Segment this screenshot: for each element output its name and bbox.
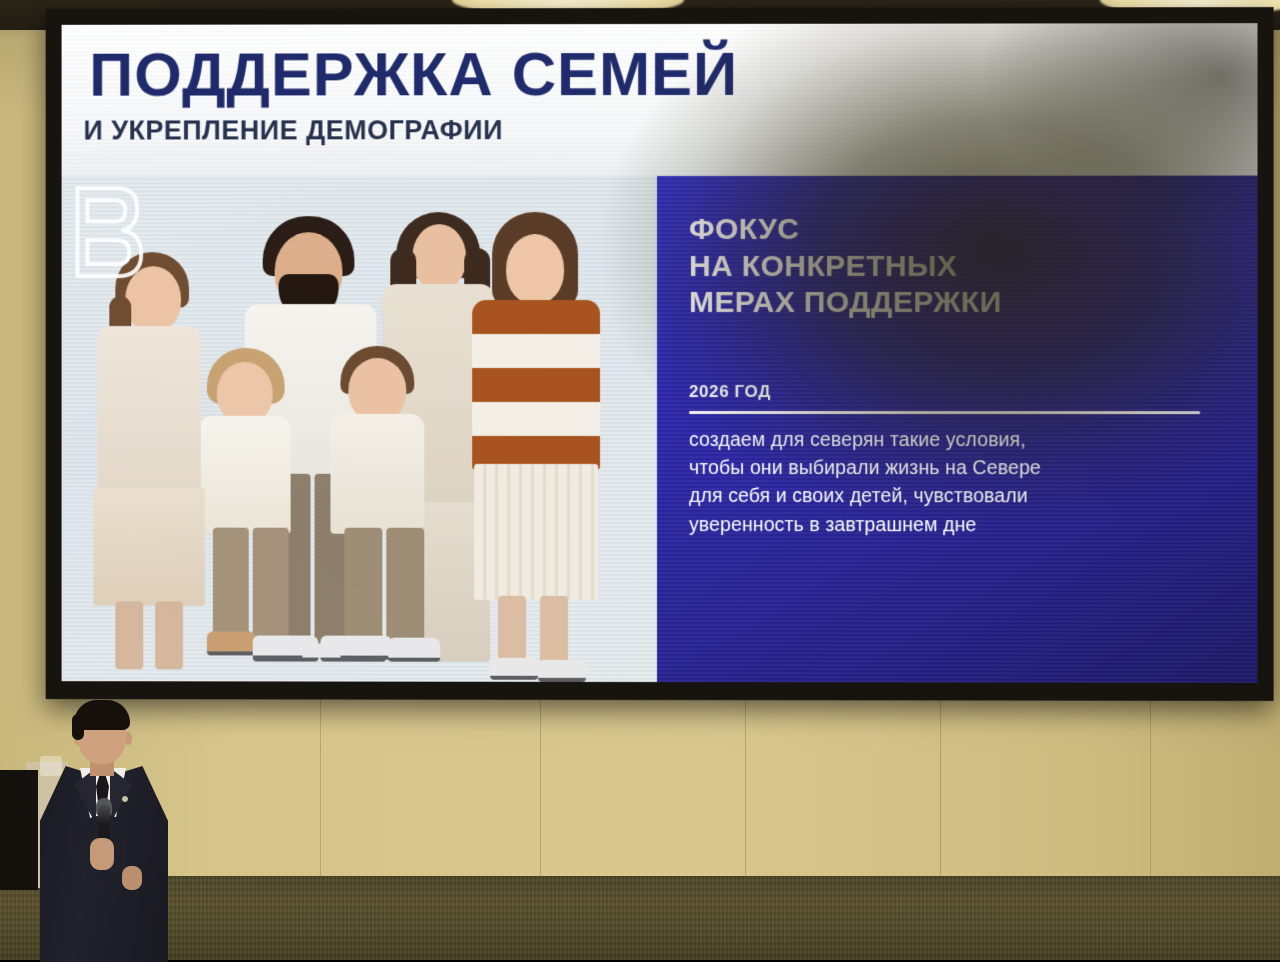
focus-heading: ФОКУС НА КОНКРЕТНЫХ МЕРАХ ПОДДЕРЖКИ [689,212,1227,322]
focus-heading-line-3: МЕРАХ ПОДДЕРЖКИ [689,285,1227,322]
wall-seam [745,690,746,880]
wall-seam [940,690,941,880]
person-child-toddler-boy [319,352,449,682]
panel-blurb-line-3: для себя и своих детей, чувствовали [689,482,1130,511]
panel-blurb-line-2: чтобы они выбирали жизнь на Севере [689,454,1130,483]
presenter-hair [72,714,84,740]
person-child-girl-left [87,252,222,681]
wall-seam [320,690,321,880]
panel-blurb: создаем для северян такие условия, чтобы… [689,426,1130,539]
slide-subtitle: И УКРЕПЛЕНИЕ ДЕМОГРАФИИ [83,114,1257,146]
presenter-lapel-pin [122,796,128,802]
presenter-person [30,698,180,960]
panel-blurb-line-1: создаем для северян такие условия, [689,426,1130,454]
year-label: 2026 ГОД [689,382,1227,402]
slide-title: ПОДДЕРЖКА СЕМЕЙ [89,43,1251,106]
wall-seam [540,690,541,880]
conference-room: ПОДДЕРЖКА СЕМЕЙ И УКРЕПЛЕНИЕ ДЕМОГРАФИИ [0,0,1280,960]
panel-divider [689,411,1200,414]
led-display-screen: ПОДДЕРЖКА СЕМЕЙ И УКРЕПЛЕНИЕ ДЕМОГРАФИИ [62,23,1258,683]
family-group [62,212,657,682]
led-display-frame: ПОДДЕРЖКА СЕМЕЙ И УКРЕПЛЕНИЕ ДЕМОГРАФИИ [46,7,1274,701]
slide-header: ПОДДЕРЖКА СЕМЕЙ И УКРЕПЛЕНИЕ ДЕМОГРАФИИ [62,23,1258,176]
focus-panel: ФОКУС НА КОНКРЕТНЫХ МЕРАХ ПОДДЕРЖКИ 2026… [657,176,1258,683]
striped-sweater [472,300,600,470]
slide-body: ФОКУС НА КОНКРЕТНЫХ МЕРАХ ПОДДЕРЖКИ 2026… [62,176,1258,683]
outlined-b-logo-icon [72,184,154,280]
family-photo [62,176,657,682]
wall-seam [1150,690,1151,880]
presenter-hand [90,838,114,870]
focus-heading-line-2: НА КОНКРЕТНЫХ [689,248,1227,285]
focus-heading-line-1: ФОКУС [689,212,1227,249]
panel-blurb-line-4: уверенность в завтрашнем дне [689,511,1130,540]
carpet-floor [0,876,1280,960]
presenter-hand [122,866,142,890]
person-child-girl-right [460,212,610,682]
